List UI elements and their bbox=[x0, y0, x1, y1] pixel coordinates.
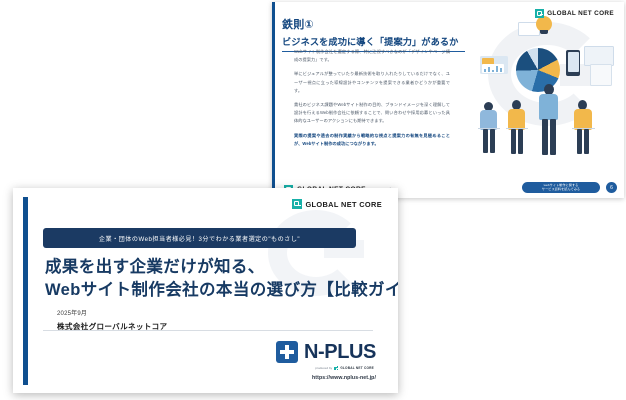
slide-body-text: Webサイト制作会社を選定する際、特に注視すべきなのが「デザインやページ構成の提… bbox=[294, 48, 450, 154]
g-square-icon bbox=[292, 199, 302, 209]
brand-name: GLOBAL NET CORE bbox=[547, 10, 614, 17]
cover-banner: 企業・団体のWeb担当者様必見！3分でわかる業者選定の"ものさし" bbox=[43, 228, 356, 248]
produced-by-brand: GLOBAL NET CORE bbox=[340, 366, 374, 370]
nplus-wordmark: N-PLUS bbox=[304, 342, 376, 362]
body-paragraph: Webサイト制作会社を選定する際、特に注視すべきなのが「デザインやページ構成の提… bbox=[294, 48, 450, 64]
produced-by-line: produced by GLOBAL NET CORE bbox=[315, 366, 374, 370]
cta-button[interactable]: webサイト制作に関する サービス資料を読んでみる bbox=[522, 182, 600, 193]
slide-title-number: 鉄則① bbox=[282, 16, 616, 32]
cover-title-line-1: 成果を出す企業だけが知る、 bbox=[45, 256, 375, 279]
cover-meta: 2025年9月 株式会社グローバルネットコア bbox=[57, 308, 167, 332]
nplus-logo-block: N-PLUS produced by GLOBAL NET CORE https… bbox=[276, 341, 376, 381]
slide-thumbnail-cover[interactable]: GLOBAL NET CORE 企業・団体のWeb担当者様必見！3分でわかる業者… bbox=[13, 188, 398, 393]
cover-banner-text: 企業・団体のWeb担当者様必見！3分でわかる業者選定の"ものさし" bbox=[99, 234, 300, 243]
cta-line-2: サービス資料を読んでみる bbox=[542, 188, 580, 192]
body-paragraph-highlight: 実際の提案や過去の制作実績から戦略的な視点と提案力の有無を見極めることが、Web… bbox=[294, 132, 450, 148]
cover-title-line-2: Webサイト制作会社の本当の選び方【比較ガイド】 bbox=[45, 279, 375, 302]
brand-logo-header: GLOBAL NET CORE bbox=[535, 9, 614, 18]
produced-by-label: produced by bbox=[315, 366, 332, 370]
cover-divider bbox=[43, 330, 373, 331]
brand-logo-header: GLOBAL NET CORE bbox=[292, 199, 382, 209]
g-square-icon bbox=[334, 366, 338, 370]
nplus-url[interactable]: https://www.nplus-net.jp/ bbox=[312, 375, 376, 381]
body-paragraph: 単にビジュアルが整っていたり最新技術を取り入れたりしているだけでなく、ユーザー視… bbox=[294, 70, 450, 95]
brand-name: GLOBAL NET CORE bbox=[305, 200, 382, 209]
cover-date: 2025年9月 bbox=[57, 308, 167, 317]
slide-preview-canvas: GLOBAL NET CORE 鉄則① ビジネスを成功に導く「提案力」があるか … bbox=[0, 0, 626, 400]
g-square-icon bbox=[535, 9, 544, 18]
plus-square-icon bbox=[276, 341, 298, 363]
cover-title: 成果を出す企業だけが知る、 Webサイト制作会社の本当の選び方【比較ガイド】 bbox=[45, 256, 375, 303]
body-paragraph: 貴社のビジネス課題やWebサイト制作の目的、ブランドイメージを深く理解して設計を… bbox=[294, 101, 450, 126]
nplus-logo-row: N-PLUS bbox=[276, 341, 376, 363]
accent-bar-left bbox=[23, 197, 28, 385]
slide-thumbnail-back[interactable]: GLOBAL NET CORE 鉄則① ビジネスを成功に導く「提案力」があるか … bbox=[272, 2, 624, 198]
page-number-badge: 6 bbox=[606, 182, 617, 193]
slide-title-subtitle: ビジネスを成功に導く「提案力」があるか bbox=[282, 34, 616, 48]
